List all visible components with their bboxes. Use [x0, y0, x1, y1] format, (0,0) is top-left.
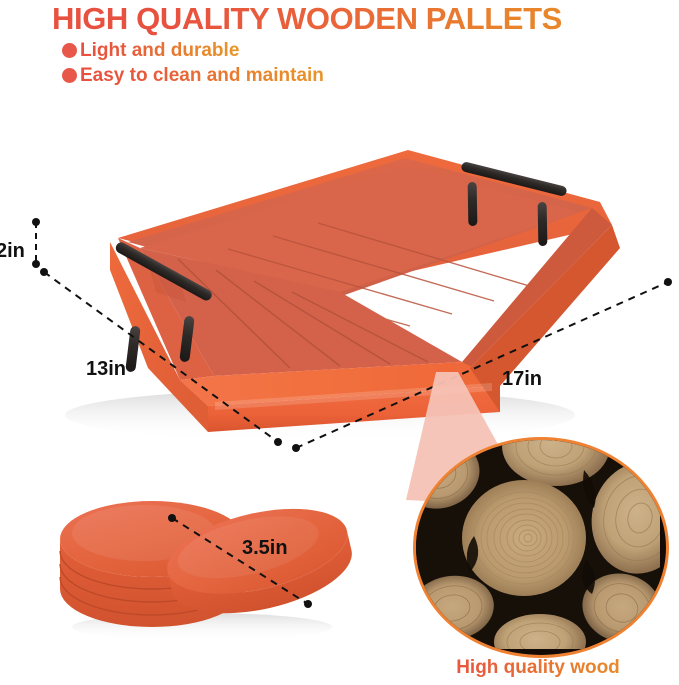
handle-post	[468, 182, 478, 226]
list-item: Easy to clean and maintain	[62, 63, 482, 88]
dimension-line-height	[32, 218, 40, 268]
list-item-label: Light and durable	[80, 40, 239, 62]
dimension-label-coaster: 3.5in	[242, 537, 288, 560]
list-item-label: Easy to clean and maintain	[80, 65, 324, 87]
wood-caption: High quality wood	[413, 657, 663, 679]
handle-post	[538, 202, 548, 246]
list-item: Light and durable	[62, 38, 482, 63]
product-infographic: HIGH QUALITY WOODEN PALLETS Light and du…	[0, 0, 679, 685]
dimension-label-height: 2in	[0, 240, 25, 263]
wood-detail-circle	[413, 437, 669, 658]
dimension-label-width: 13in	[86, 358, 126, 381]
coaster-illustration: 3.5in	[52, 485, 352, 645]
coaster-svg	[52, 485, 352, 645]
handle-post	[125, 326, 141, 373]
bullet-dot-icon	[62, 68, 77, 83]
wood-texture	[416, 440, 660, 649]
bullet-dot-icon	[62, 43, 77, 58]
feature-bullet-list: Light and durable Easy to clean and main…	[62, 38, 482, 88]
page-title: HIGH QUALITY WOODEN PALLETS	[52, 2, 672, 38]
